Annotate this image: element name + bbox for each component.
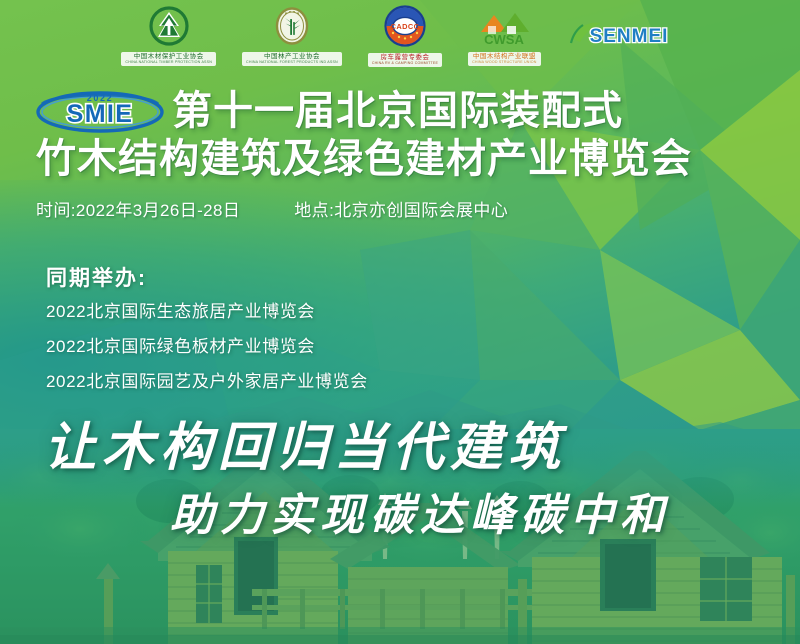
logo-china-timber-protection: 中国木材保护工业协会 CHINA NATIONAL TIMBER PROTECT… xyxy=(121,6,216,66)
bamboo-oval-icon xyxy=(272,6,312,51)
concurrent-heading: 同期举办: xyxy=(46,266,368,292)
svg-text:CADCC: CADCC xyxy=(391,22,420,31)
logo-caption: 中国林产工业协会 CHINA NATIONAL FOREST PRODUCTS … xyxy=(242,52,342,66)
event-date: 时间:2022年3月26日-28日 xyxy=(36,200,240,222)
event-meta: 时间:2022年3月26日-28日 地点:北京亦创国际会展中心 xyxy=(36,200,508,222)
senmei-leaf-icon: SENMEI xyxy=(567,17,679,56)
concurrent-event-3: 2022北京国际园艺及户外家居产业博览会 xyxy=(46,371,368,392)
svg-text:CWSA: CWSA xyxy=(484,32,524,46)
poster-title-line-2: 竹木结构建筑及绿色建材产业博览会 xyxy=(0,136,800,182)
concurrent-event-2: 2022北京国际绿色板材产业博览会 xyxy=(46,336,368,357)
svg-text:SMIE: SMIE xyxy=(67,100,134,128)
slogan-line-2: 助力实现碳达峰碳中和 xyxy=(0,488,800,544)
svg-text:SENMEI: SENMEI xyxy=(589,26,668,47)
logo-senmei: SENMEI xyxy=(567,17,679,56)
logo-cadcc-rv-camping: CADCC 房车露营专委会 CHINA RV & CAMPING COMMITT… xyxy=(368,5,442,67)
sponsor-logo-strip: 中国木材保护工业协会 CHINA NATIONAL TIMBER PROTECT… xyxy=(0,4,800,68)
logo-cwsa-wood-structure: CWSA 中国木结构产业联盟 CHINA WOOD STRUCTURE UNIO… xyxy=(468,6,541,66)
cwsa-house-icon: CWSA xyxy=(477,6,531,51)
logo-caption: 房车露营专委会 CHINA RV & CAMPING COMMITTEE xyxy=(368,53,442,67)
pine-tree-shield-icon xyxy=(149,6,189,51)
smie-brand-logo: 2022 SMIE xyxy=(34,88,166,134)
concurrent-event-1: 2022北京国际生态旅居产业博览会 xyxy=(46,301,368,322)
poster-title-line-1: 第十一届北京国际装配式 xyxy=(172,89,623,133)
headline-block: 2022 SMIE 第十一届北京国际装配式 竹木结构建筑及绿色建材产业博览会 xyxy=(0,88,800,182)
exhibition-poster: 中国木材保护工业协会 CHINA NATIONAL TIMBER PROTECT… xyxy=(0,0,800,644)
cadcc-roundel-icon: CADCC xyxy=(384,5,426,52)
logo-caption: 中国木材保护工业协会 CHINA NATIONAL TIMBER PROTECT… xyxy=(121,52,216,66)
slogan-line-1: 让木构回归当代建筑 xyxy=(0,418,800,480)
slogan-block: 让木构回归当代建筑 助力实现碳达峰碳中和 xyxy=(0,418,800,544)
event-venue: 地点:北京亦创国际会展中心 xyxy=(294,200,508,222)
logo-china-forest-products: 中国林产工业协会 CHINA NATIONAL FOREST PRODUCTS … xyxy=(242,6,342,66)
logo-caption: 中国木结构产业联盟 CHINA WOOD STRUCTURE UNION xyxy=(468,52,541,66)
concurrent-events-block: 同期举办: 2022北京国际生态旅居产业博览会 2022北京国际绿色板材产业博览… xyxy=(46,266,368,406)
